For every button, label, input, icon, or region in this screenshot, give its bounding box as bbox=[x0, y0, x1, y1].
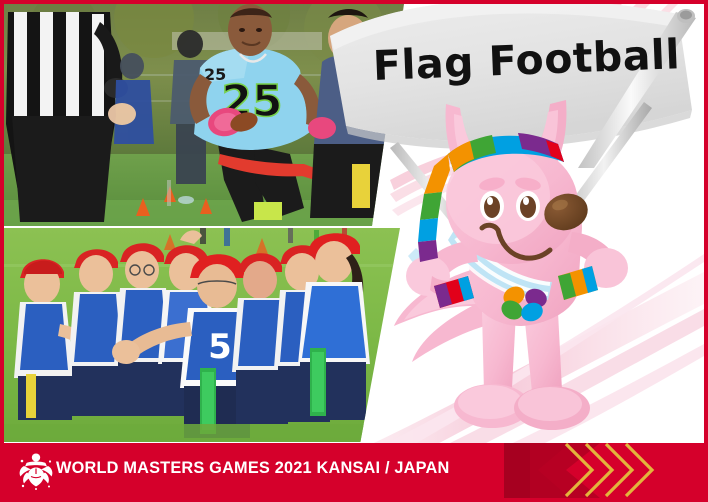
chevron-decoration bbox=[504, 443, 704, 498]
cherry-blossom-logo-icon bbox=[18, 452, 54, 490]
banner-title: WORLD MASTERS GAMES 2021 KANSAI / JAPAN bbox=[56, 458, 449, 478]
mascot-character bbox=[386, 100, 656, 448]
bottom-banner: WORLD MASTERS GAMES 2021 KANSAI / JAPAN bbox=[4, 443, 704, 498]
photo-school-children: 5 bbox=[4, 228, 400, 442]
photo-bottom-illustration: 5 bbox=[4, 228, 400, 442]
poster-frame: 25 25 25 bbox=[0, 0, 708, 502]
poster-stage: 25 25 25 bbox=[4, 4, 704, 498]
mascot-illustration bbox=[386, 100, 656, 448]
svg-text:5: 5 bbox=[208, 327, 232, 367]
